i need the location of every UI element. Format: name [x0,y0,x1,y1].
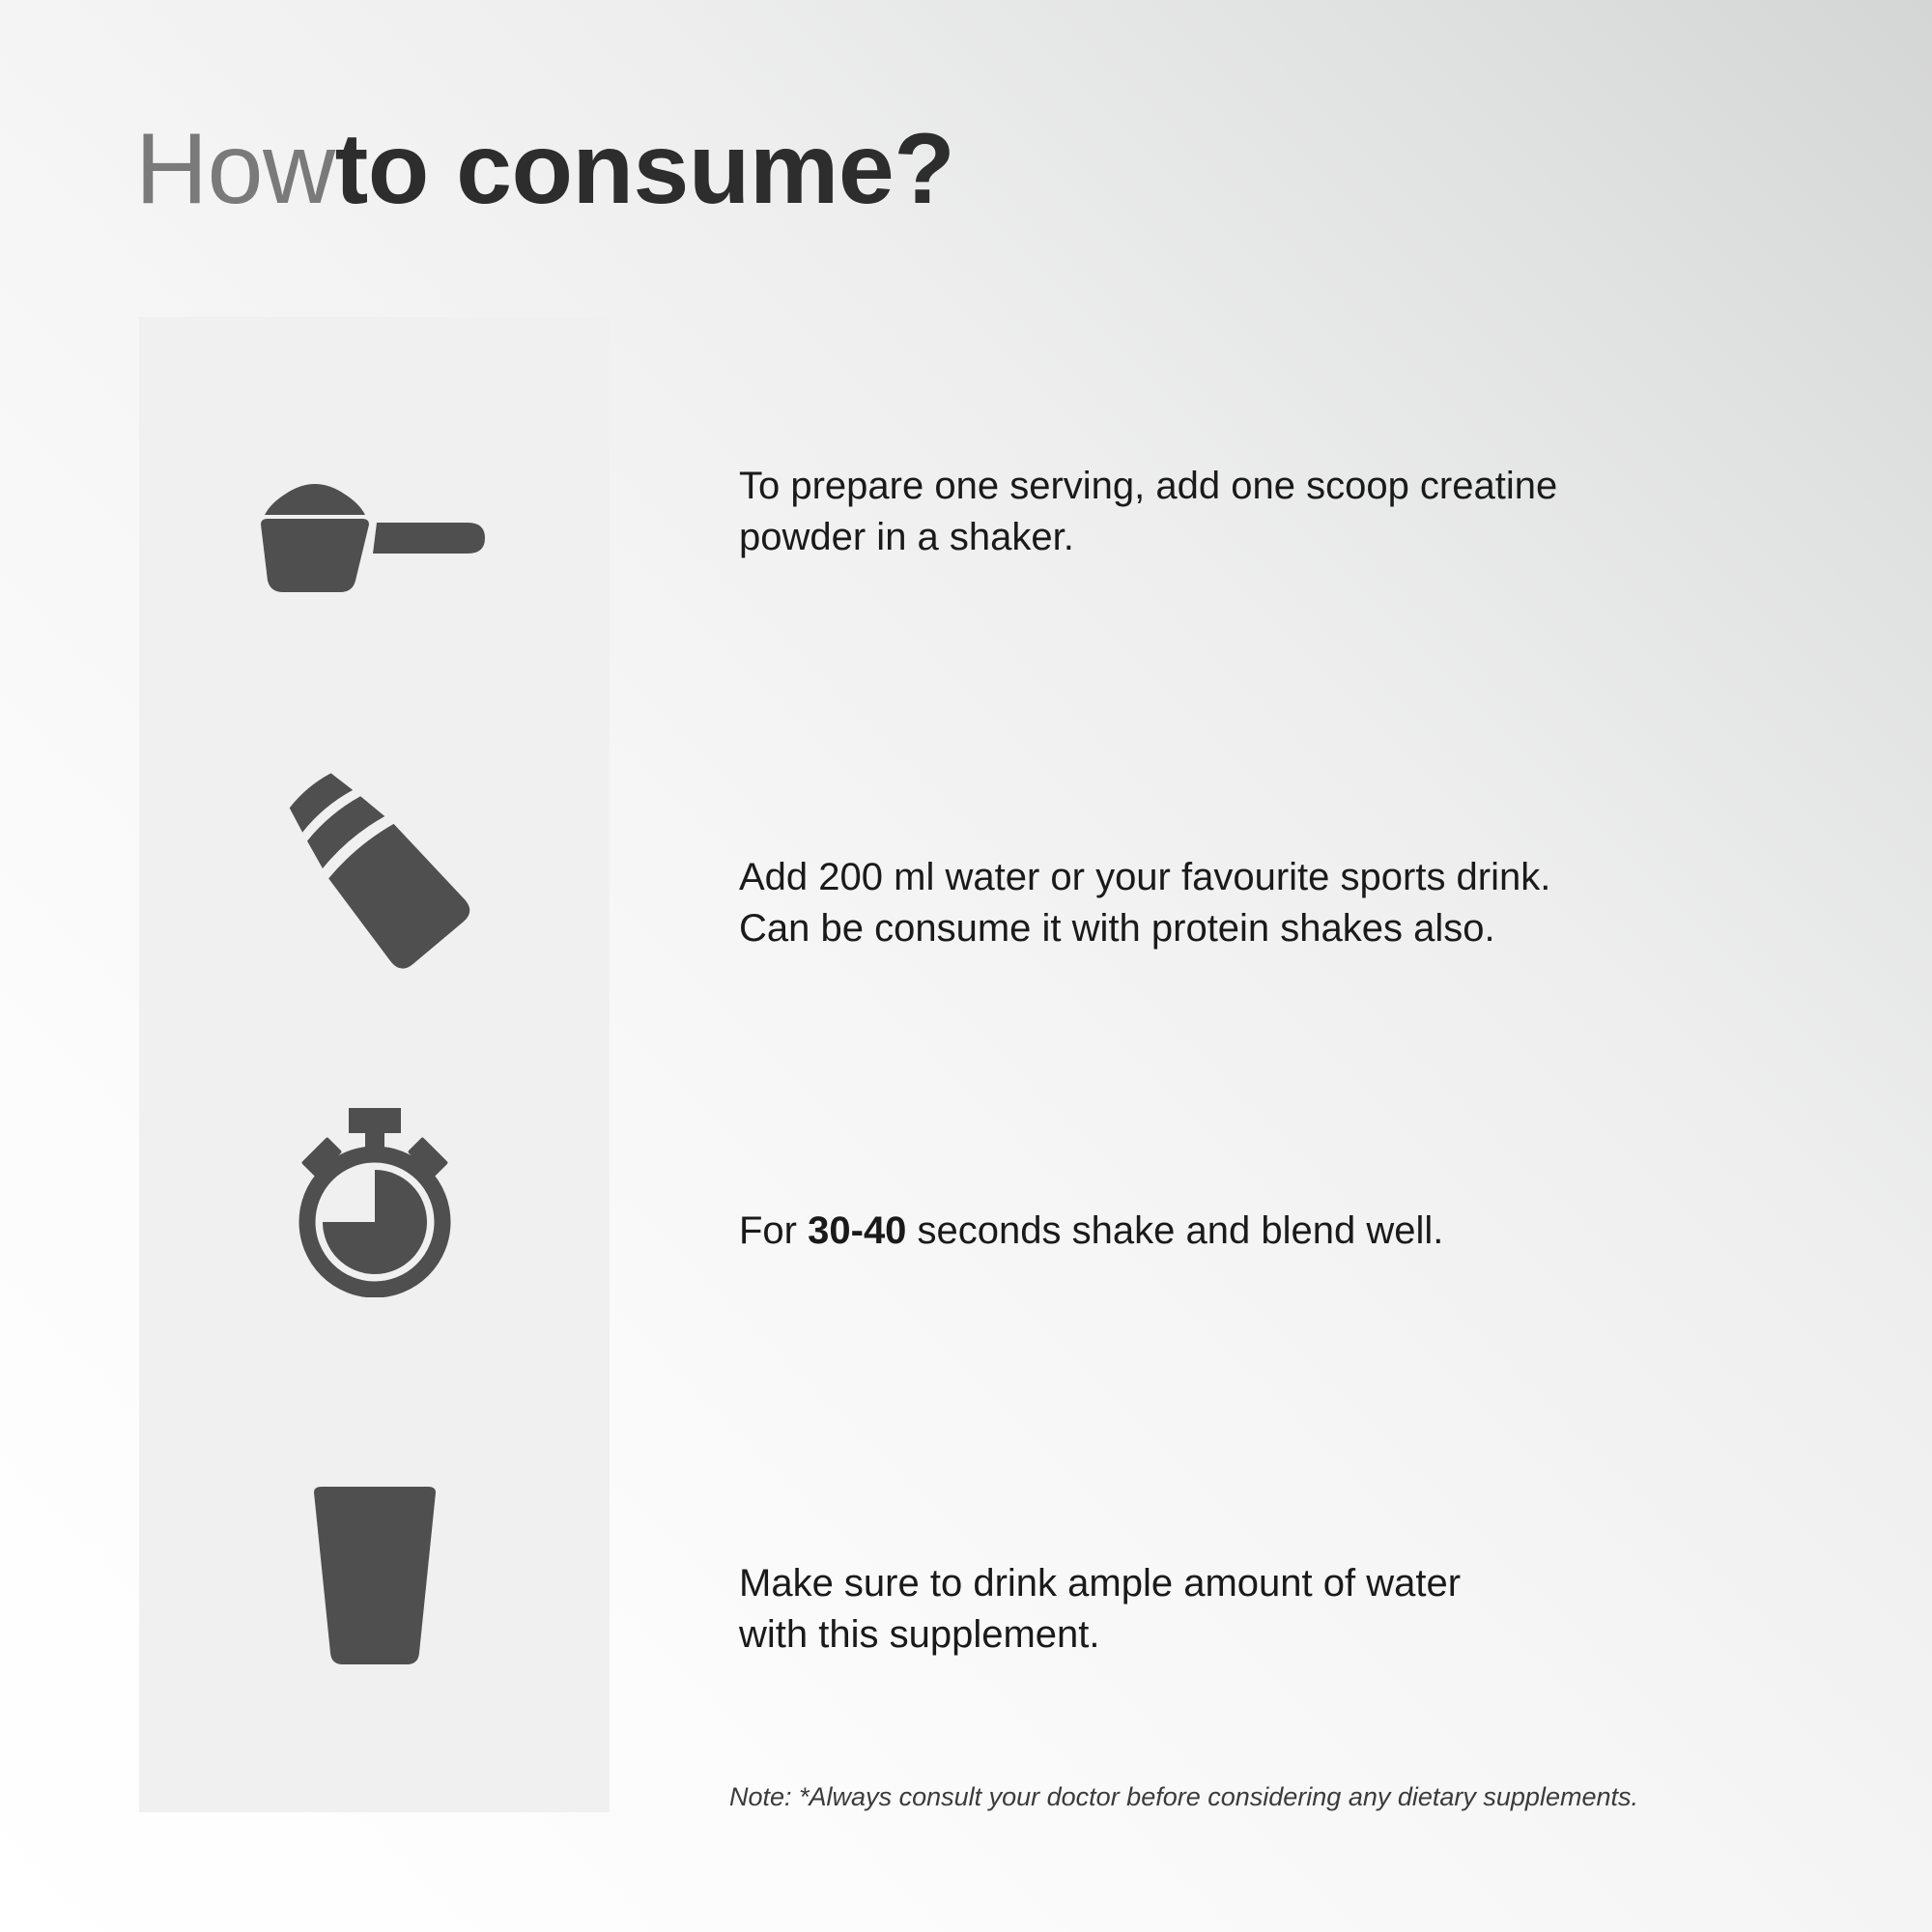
page-title-light: How [135,113,335,225]
icon-panel [139,317,610,1812]
page-title-bold: to consume? [335,113,955,225]
step-3-suffix: seconds shake and blend well. [906,1209,1443,1252]
stopwatch-icon [287,1104,463,1297]
step-text-3: For 30-40 seconds shake and blend well. [739,1206,1443,1257]
footnote: Note: *Always consult your doctor before… [729,1782,1638,1812]
step-3-duration: 30-40 [808,1209,906,1252]
step-3-prefix: For [739,1209,808,1252]
icon-slot-shaker [139,752,610,983]
step-4-line-1: Make sure to drink ample amount of water [739,1562,1461,1605]
scoop-icon [259,482,491,596]
step-2-line-1: Add 200 ml water or your favourite sport… [739,856,1550,898]
step-1-line-2: powder in a shaker. [739,516,1074,558]
icon-slot-glass [139,1471,610,1684]
infographic-poster: Howto consume? [0,0,1932,1932]
step-1-line-1: To prepare one serving, add one scoop cr… [739,465,1557,507]
icon-slot-stopwatch [139,1090,610,1312]
shaker-bottle-icon [278,761,471,974]
page-title: Howto consume? [135,114,954,224]
step-text-1: To prepare one serving, add one scoop cr… [739,461,1557,563]
icon-slot-scoop [139,442,610,636]
step-text-4: Make sure to drink ample amount of water… [739,1558,1461,1661]
step-text-2: Add 200 ml water or your favourite sport… [739,852,1550,954]
water-glass-icon [302,1487,447,1668]
step-4-line-2: with this supplement. [739,1613,1100,1656]
step-2-line-2: Can be consume it with protein shakes al… [739,907,1495,950]
